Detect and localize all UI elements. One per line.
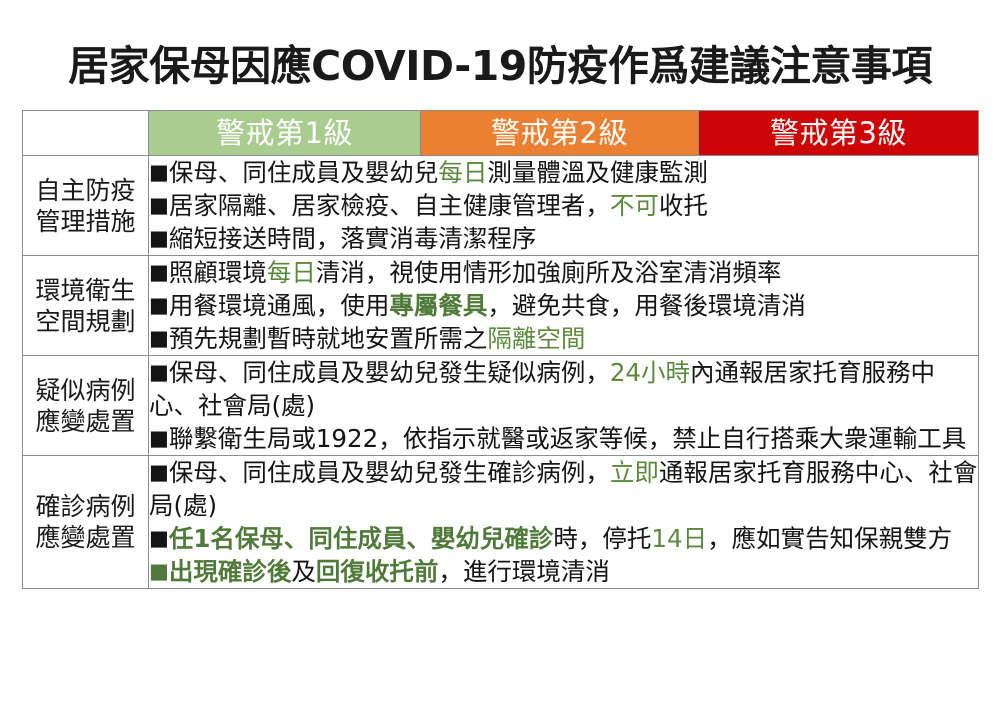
row-label-line-1: 確診病例 xyxy=(23,491,148,522)
row-label-line-2: 應變處置 xyxy=(23,406,148,437)
table-header-row: 警戒第1級 警戒第2級 警戒第3級 xyxy=(23,111,979,156)
bullet-square-icon: ■ xyxy=(149,293,169,317)
bullet-item: ■照顧環境每日清消，視使用情形加強廁所及浴室清消頻率 xyxy=(149,256,978,289)
bullet-square-icon: ■ xyxy=(149,226,169,250)
row-label-line-1: 環境衛生 xyxy=(23,275,148,306)
bullet-square-icon: ■ xyxy=(149,526,169,550)
row-label-line-1: 自主防疫 xyxy=(23,175,148,206)
table-row: 疑似病例 應變處置 ■保母、同住成員及嬰幼兒發生疑似病例，24小時內通報居家托育… xyxy=(23,356,979,456)
row-content-self-management: ■保母、同住成員及嬰幼兒每日測量體溫及健康監測 ■居家隔離、居家檢疫、自主健康管… xyxy=(149,156,979,256)
row-label-environment-hygiene: 環境衛生 空間規劃 xyxy=(23,256,149,356)
table-row: 確診病例 應變處置 ■保母、同住成員及嬰幼兒發生確診病例，立即通報居家托育服務中… xyxy=(23,456,979,589)
bullet-square-icon: ■ xyxy=(149,326,169,350)
guidance-table: 警戒第1級 警戒第2級 警戒第3級 自主防疫 管理措施 ■保母、同住成員及嬰幼兒… xyxy=(22,110,979,589)
bullet-square-icon: ■ xyxy=(149,260,169,284)
bullet-square-icon: ■ xyxy=(149,360,169,384)
row-label-confirmed-case: 確診病例 應變處置 xyxy=(23,456,149,589)
table-row: 自主防疫 管理措施 ■保母、同住成員及嬰幼兒每日測量體溫及健康監測 ■居家隔離、… xyxy=(23,156,979,256)
header-level-3: 警戒第3級 xyxy=(699,111,979,156)
bullet-square-icon: ■ xyxy=(149,193,169,217)
bullet-item: ■保母、同住成員及嬰幼兒發生疑似病例，24小時內通報居家托育服務中心、社會局(處… xyxy=(149,356,978,422)
row-content-confirmed-case: ■保母、同住成員及嬰幼兒發生確診病例，立即通報居家托育服務中心、社會局(處) ■… xyxy=(149,456,979,589)
bullet-item: ■縮短接送時間，落實消毒清潔程序 xyxy=(149,222,978,255)
table-row: 環境衛生 空間規劃 ■照顧環境每日清消，視使用情形加強廁所及浴室清消頻率 ■用餐… xyxy=(23,256,979,356)
bullet-item: ■保母、同住成員及嬰幼兒發生確診病例，立即通報居家托育服務中心、社會局(處) xyxy=(149,456,978,522)
row-label-line-2: 管理措施 xyxy=(23,206,148,237)
bullet-item: ■出現確診後及回復收托前，進行環境清消 xyxy=(149,555,978,588)
footer: 衛生福利部 MINISTRY OF HEALTH AND WELFARE 社會及… xyxy=(0,655,1000,708)
header-level-1: 警戒第1級 xyxy=(149,111,421,156)
bullet-item: ■聯繫衛生局或1922，依指示就醫或返家等候，禁止自行搭乘大衆運輸工具 xyxy=(149,422,978,455)
row-label-line-1: 疑似病例 xyxy=(23,375,148,406)
bullet-square-icon: ■ xyxy=(149,160,169,184)
infographic-page: 居家保母因應COVID-19防疫作爲建議注意事項 警戒第1級 警戒第2級 警戒第… xyxy=(0,0,1000,708)
row-content-environment-hygiene: ■照顧環境每日清消，視使用情形加強廁所及浴室清消頻率 ■用餐環境通風，使用專屬餐… xyxy=(149,256,979,356)
header-level-2: 警戒第2級 xyxy=(421,111,699,156)
bullet-item: ■任1名保母、同住成員、嬰幼兒確診時，停托14日，應如實告知保親雙方 xyxy=(149,522,978,555)
bullet-item: ■預先規劃暫時就地安置所需之隔離空間 xyxy=(149,322,978,355)
row-label-suspected-case: 疑似病例 應變處置 xyxy=(23,356,149,456)
bullet-item: ■用餐環境通風，使用專屬餐具，避免共食，用餐後環境清消 xyxy=(149,289,978,322)
bullet-square-icon: ■ xyxy=(149,559,169,583)
row-label-line-2: 空間規劃 xyxy=(23,306,148,337)
header-blank-cell xyxy=(23,111,149,156)
bullet-item: ■保母、同住成員及嬰幼兒每日測量體溫及健康監測 xyxy=(149,156,978,189)
bullet-item: ■居家隔離、居家檢疫、自主健康管理者，不可收托 xyxy=(149,189,978,222)
bullet-square-icon: ■ xyxy=(149,460,169,484)
row-content-suspected-case: ■保母、同住成員及嬰幼兒發生疑似病例，24小時內通報居家托育服務中心、社會局(處… xyxy=(149,356,979,456)
bullet-square-icon: ■ xyxy=(149,426,169,450)
row-label-line-2: 應變處置 xyxy=(23,522,148,553)
row-label-self-management: 自主防疫 管理措施 xyxy=(23,156,149,256)
page-title: 居家保母因應COVID-19防疫作爲建議注意事項 xyxy=(0,32,1000,92)
